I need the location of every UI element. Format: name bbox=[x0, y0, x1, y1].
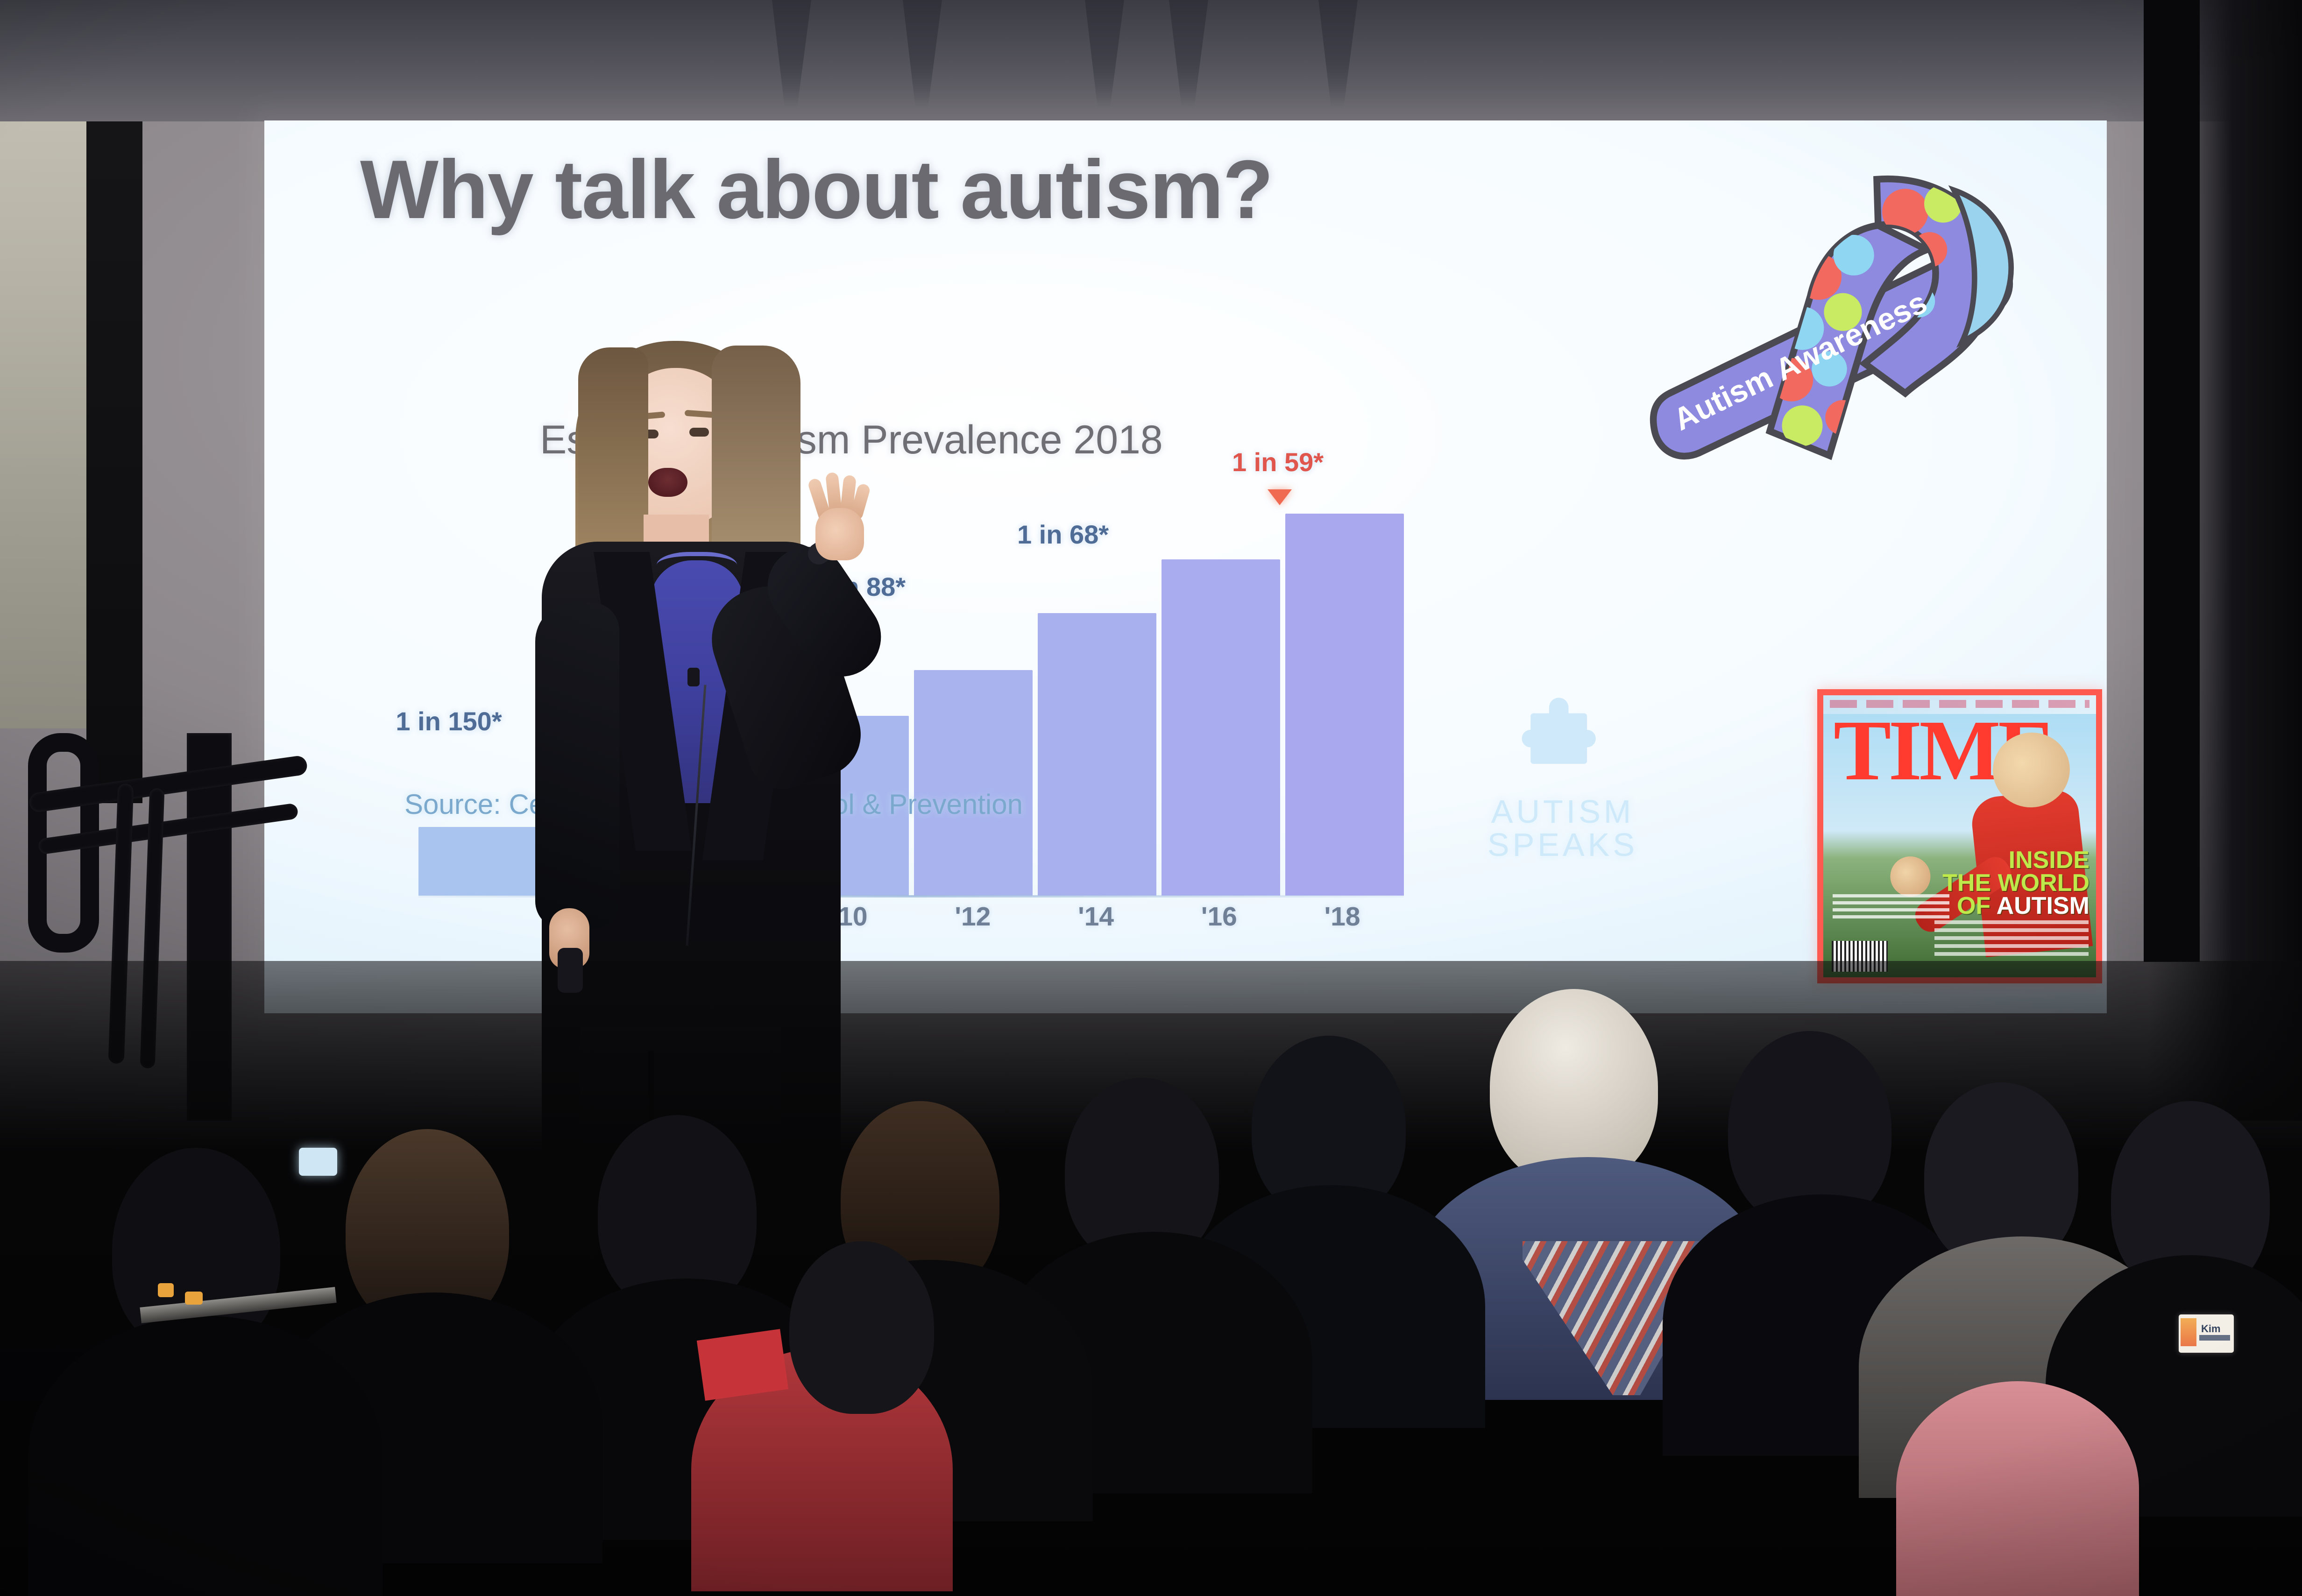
lapel-microphone bbox=[687, 668, 700, 686]
presenter-raised-hand bbox=[809, 481, 870, 560]
time-magazine-cover: TIME INSIDE THE WORLD OF AUTISM bbox=[1817, 689, 2102, 983]
table-light-2 bbox=[185, 1292, 203, 1305]
time-headline-3a: OF bbox=[1957, 892, 1997, 919]
presenter-mouth bbox=[648, 468, 687, 497]
table-light-1 bbox=[158, 1283, 174, 1297]
time-headline-1: INSIDE bbox=[1903, 849, 2090, 872]
presenter-left-arm bbox=[535, 602, 619, 929]
bar-14 bbox=[1038, 613, 1156, 896]
xtick-16: '16 bbox=[1158, 901, 1281, 943]
xtick-18: '18 bbox=[1281, 901, 1404, 943]
audience-pink-shirt bbox=[1896, 1381, 2139, 1596]
down-triangle-marker bbox=[1268, 489, 1292, 505]
slide-title: Why talk about autism? bbox=[360, 141, 1273, 237]
data-label-2014: 1 in 68* bbox=[1005, 522, 1121, 548]
time-headline-3b: AUTISM bbox=[1997, 892, 2090, 919]
ceiling-drape bbox=[0, 0, 2302, 121]
phone-screen-glow bbox=[299, 1148, 337, 1176]
bar-04 bbox=[418, 827, 537, 896]
badge-name-text: Kim bbox=[2201, 1323, 2221, 1335]
audience-head-gray bbox=[1490, 989, 1658, 1185]
bar-12 bbox=[914, 670, 1033, 896]
bar-16 bbox=[1162, 559, 1280, 896]
right-black-strip bbox=[2144, 0, 2200, 962]
xtick-14: '14 bbox=[1034, 901, 1158, 943]
time-cover-headline: INSIDE THE WORLD OF AUTISM bbox=[1903, 849, 2090, 918]
autism-speaks-line2: SPEAKS bbox=[1462, 828, 1663, 862]
time-headline-2: THE WORLD bbox=[1903, 872, 2090, 895]
autism-speaks-line1: AUTISM bbox=[1462, 795, 1663, 828]
bar-18 bbox=[1285, 514, 1404, 896]
presentation-clicker bbox=[558, 948, 583, 993]
data-label-2018: 1 in 59* bbox=[1208, 450, 1348, 475]
attendee-name-badge: Kim bbox=[2179, 1314, 2234, 1353]
photo-scene: Why talk about autism? Estimated Autism … bbox=[0, 0, 2302, 1596]
autism-awareness-ribbon-icon: Autism Awareness bbox=[1640, 165, 2046, 492]
data-label-2004: 1 in 150* bbox=[390, 709, 507, 734]
audience-silhouettes bbox=[0, 961, 2302, 1596]
red-paper-card bbox=[697, 1329, 788, 1401]
autism-speaks-logo: AUTISM SPEAKS bbox=[1462, 688, 1663, 884]
xtick-12: '12 bbox=[911, 901, 1034, 943]
